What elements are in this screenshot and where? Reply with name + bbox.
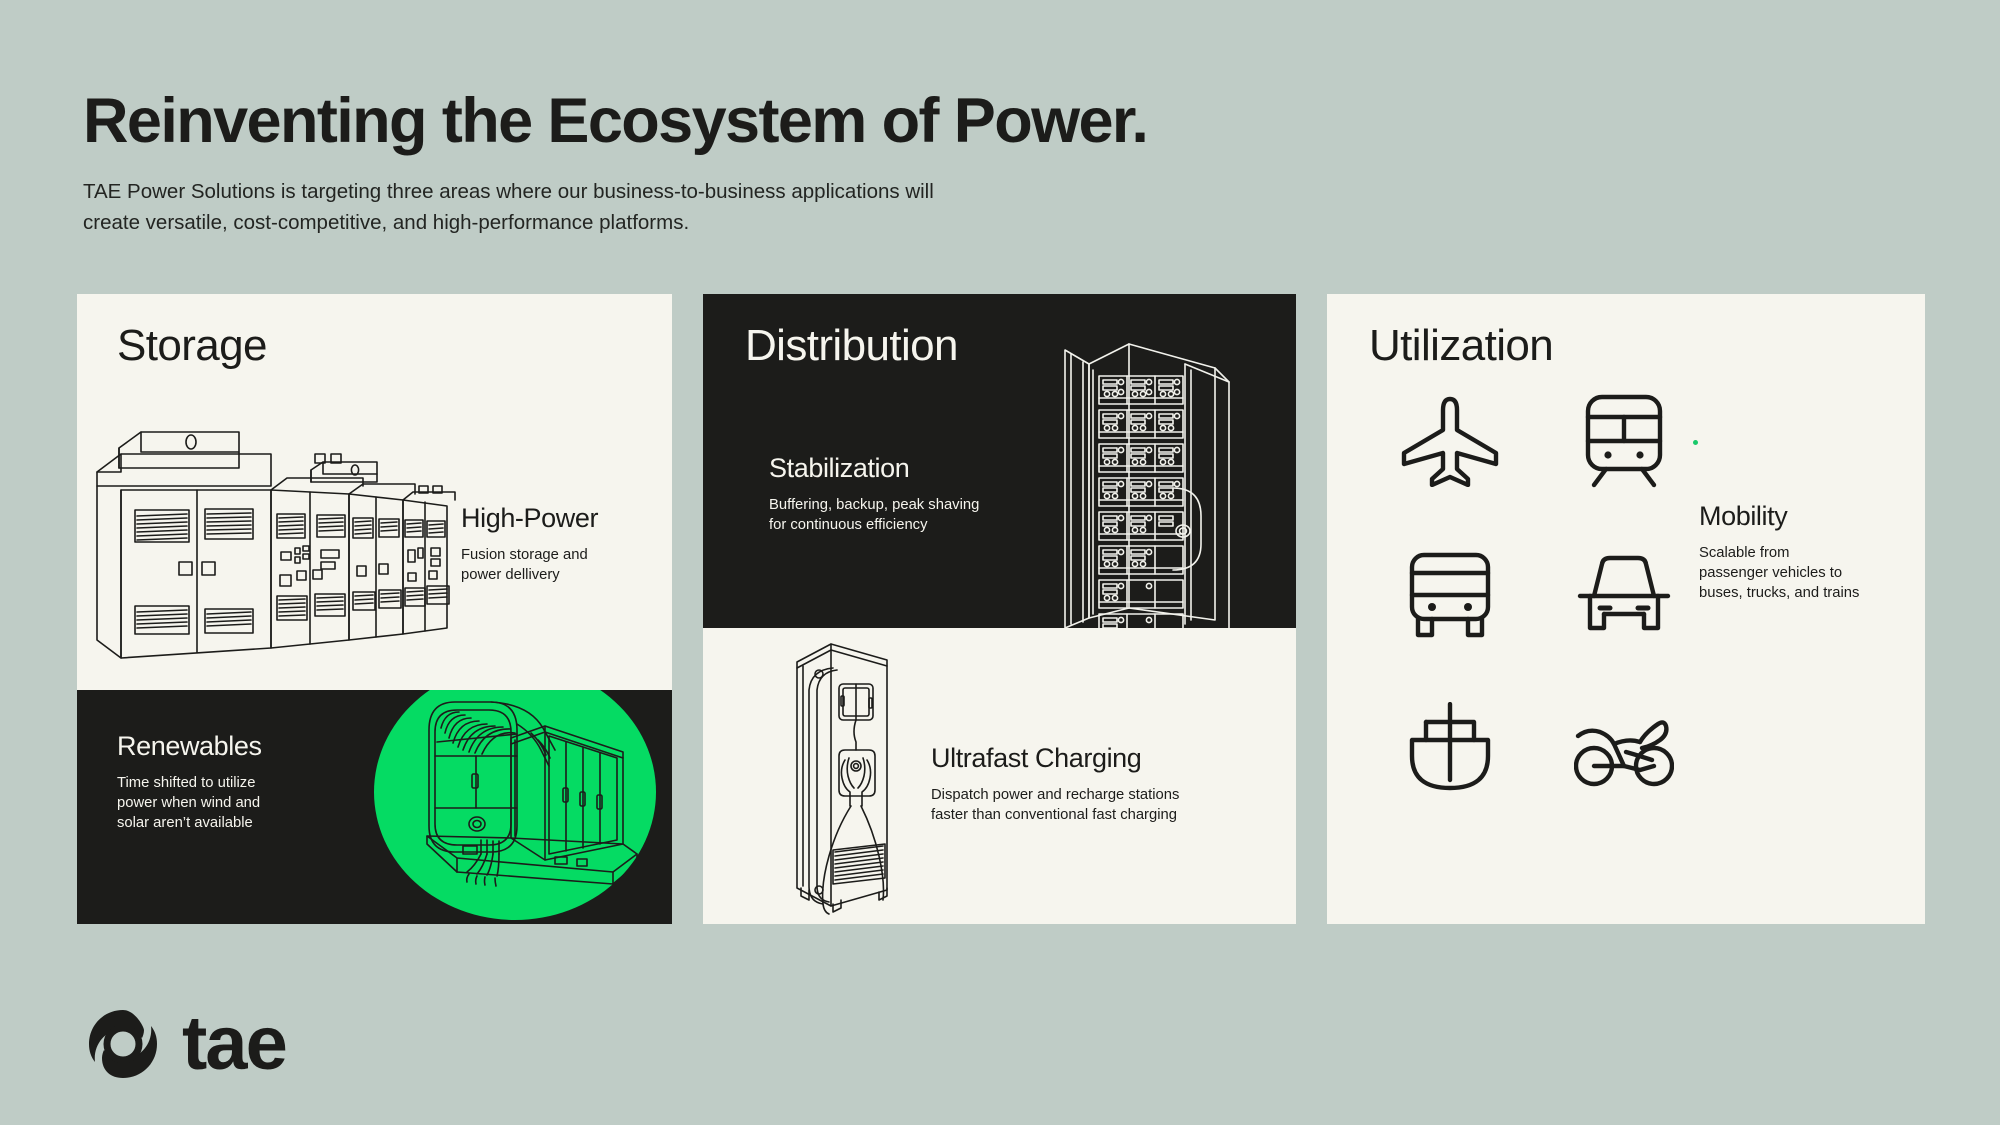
storage-high-power-heading: High-Power bbox=[461, 504, 651, 534]
distribution-stabilization-blurb: Stabilization Buffering, backup, peak sh… bbox=[769, 454, 1029, 535]
storage-high-power-body: Fusion storage and power dellivery bbox=[461, 545, 651, 586]
utilization-mobility-pane[interactable]: Utilization bbox=[1327, 294, 1925, 924]
page-header: Reinventing the Ecosystem of Power. TAE … bbox=[83, 88, 1583, 238]
green-accent-dot bbox=[1693, 440, 1698, 445]
ev-charger-illustration bbox=[775, 638, 915, 918]
panel-title-storage: Storage bbox=[117, 324, 267, 368]
storage-renewables-body: Time shifted to utilize power when wind … bbox=[117, 773, 327, 834]
utilization-mobility-blurb: Mobility Scalable from passenger vehicle… bbox=[1699, 502, 1909, 603]
storage-renewables-heading: Renewables bbox=[117, 732, 327, 762]
page-title: Reinventing the Ecosystem of Power. bbox=[83, 88, 1583, 154]
distribution-stabilization-heading: Stabilization bbox=[769, 454, 1029, 484]
panel-utilization[interactable]: Utilization bbox=[1327, 294, 1925, 924]
airplane-icon bbox=[1387, 386, 1513, 496]
subtitle-line-1: TAE Power Solutions is targeting three a… bbox=[83, 176, 1083, 207]
utilization-mobility-heading: Mobility bbox=[1699, 502, 1909, 532]
mobility-icon-grid bbox=[1387, 386, 1687, 804]
storage-renewables-blurb: Renewables Time shifted to utilize power… bbox=[117, 732, 327, 833]
tae-wordmark: tae bbox=[182, 1006, 286, 1082]
storage-high-power-pane[interactable]: Storage bbox=[77, 294, 672, 690]
page-subtitle: TAE Power Solutions is targeting three a… bbox=[83, 176, 1083, 238]
distribution-stabilization-pane[interactable]: Distribution Stabilization Buffering, ba… bbox=[703, 294, 1296, 628]
tae-logo[interactable]: tae bbox=[80, 1001, 286, 1087]
battery-cabinet-row-illustration bbox=[91, 390, 471, 680]
subtitle-line-2: create versatile, cost-competitive, and … bbox=[83, 207, 1083, 238]
panel-grid: Storage bbox=[77, 294, 1925, 924]
bus-icon bbox=[1387, 540, 1513, 650]
panel-title-distribution: Distribution bbox=[745, 324, 958, 368]
panel-storage[interactable]: Storage bbox=[77, 294, 672, 924]
boat-icon bbox=[1387, 694, 1513, 804]
panel-distribution[interactable]: Distribution Stabilization Buffering, ba… bbox=[703, 294, 1296, 924]
tae-spiral-logo-icon bbox=[80, 1001, 166, 1087]
distribution-charging-pane[interactable]: Ultrafast Charging Dispatch power and re… bbox=[703, 628, 1296, 924]
distribution-charging-heading: Ultrafast Charging bbox=[931, 744, 1231, 774]
motorcycle-icon bbox=[1561, 694, 1687, 804]
car-icon bbox=[1561, 540, 1687, 650]
utilization-mobility-body: Scalable from passenger vehicles to buse… bbox=[1699, 543, 1909, 604]
distribution-charging-body: Dispatch power and recharge stations fas… bbox=[931, 785, 1231, 826]
panel-title-utilization: Utilization bbox=[1369, 324, 1553, 368]
storage-renewables-pane[interactable]: Renewables Time shifted to utilize power… bbox=[77, 690, 672, 924]
open-battery-rack-illustration bbox=[1033, 336, 1283, 628]
distribution-stabilization-body: Buffering, backup, peak shaving for cont… bbox=[769, 495, 1029, 536]
distribution-charging-blurb: Ultrafast Charging Dispatch power and re… bbox=[931, 744, 1231, 825]
green-container-illustration bbox=[365, 690, 665, 924]
storage-high-power-blurb: High-Power Fusion storage and power dell… bbox=[461, 504, 651, 585]
train-icon bbox=[1561, 386, 1687, 496]
